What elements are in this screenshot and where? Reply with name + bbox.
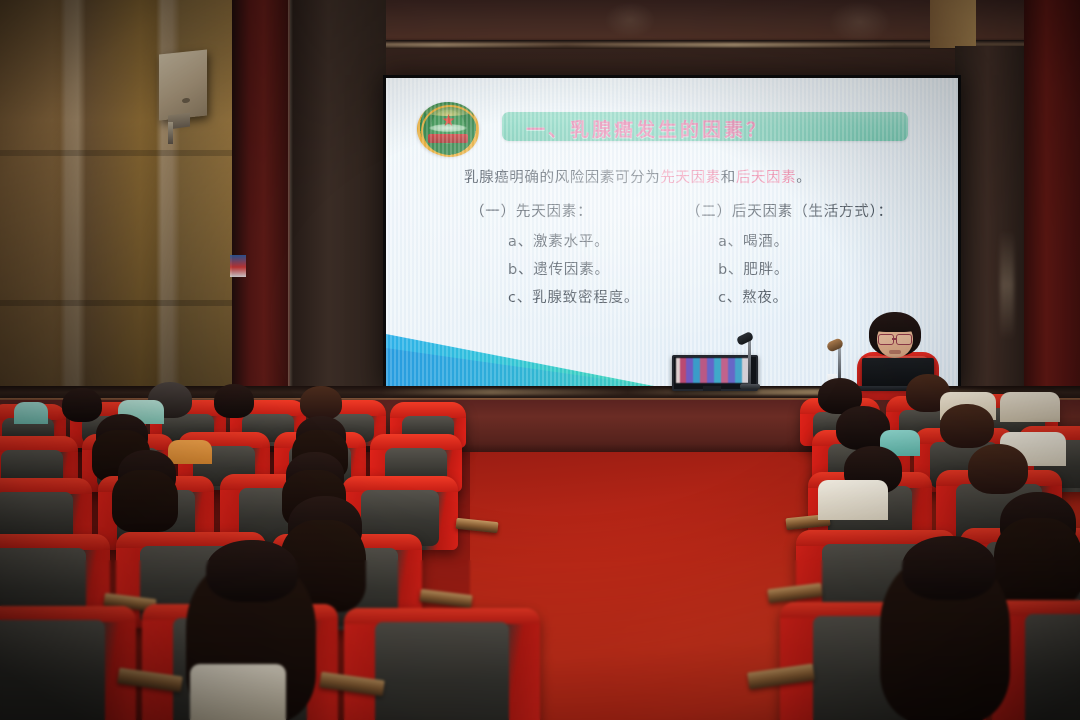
audience-hair: [994, 518, 1080, 608]
presenter-glasses-bridge: [892, 338, 896, 340]
desk-monitor-display: [676, 358, 750, 383]
lead-highlight-a: 先天因素: [660, 170, 720, 186]
dark-panel-right: [955, 46, 1027, 436]
list-item: [968, 444, 1028, 494]
column-2-item-c: c、熬夜。: [718, 286, 788, 307]
column-1-item-c: c、乳腺致密程度。: [508, 286, 639, 307]
slide-lead-line: 乳腺癌明确的风险因素可分为先天因素和后天因素。: [464, 166, 904, 187]
audience-clothing: [14, 402, 48, 424]
presenter-glasses-right-lens: [896, 334, 912, 345]
table-row: [0, 606, 136, 720]
lead-suffix: 。: [796, 170, 811, 186]
auditorium-photo: 一、乳腺癌发生的因素？ 乳腺癌明确的风险因素可分为先天因素和后天因素。 （一）先…: [0, 0, 1080, 720]
wall-speaker: [159, 49, 207, 120]
column-2-item-a: a、喝酒。: [718, 230, 789, 251]
audience-clothing: [1000, 392, 1060, 422]
slide-title: 一、乳腺癌发生的因素？: [526, 115, 906, 139]
tan-panel-right: [930, 0, 976, 48]
list-item: [300, 386, 342, 420]
microphone-left-stem: [748, 340, 751, 386]
moulding-highlight: [300, 43, 1000, 47]
desk-monitor-stand: [703, 386, 721, 391]
speaker-bracket: [168, 122, 173, 144]
emblem-wings-icon: [429, 124, 467, 132]
column-2-heading: （二）后天因素（生活方式）：: [686, 200, 893, 221]
room-background: 一、乳腺癌发生的因素？ 乳腺癌明确的风险因素可分为先天因素和后天因素。 （一）先…: [0, 0, 1080, 720]
column-1-item-b: b、遗传因素。: [508, 258, 610, 279]
maroon-column-left: [232, 0, 290, 420]
audience-clothing: [190, 664, 286, 720]
column-1-item-a: a、激素水平。: [508, 230, 610, 251]
wall-sign: [230, 255, 246, 277]
presenter-mouth: [889, 350, 901, 354]
lead-highlight-b: 后天因素: [736, 170, 796, 186]
column-2-item-b: b、肥胖。: [718, 258, 789, 279]
audience-hair: [112, 470, 178, 532]
microphone-left-base: [740, 384, 760, 389]
table-row: [344, 608, 540, 720]
lead-prefix: 乳腺癌明确的风险因素可分为: [464, 170, 660, 186]
column-1-heading: （一）先天因素：: [470, 200, 592, 221]
audience-clothing: [818, 480, 888, 520]
emblem-banner: [428, 134, 468, 143]
list-item: [940, 404, 994, 448]
presenter-fringe: [872, 316, 918, 332]
lead-conjunction: 和: [721, 170, 736, 186]
list-item: [206, 540, 298, 602]
dark-panel-left: [290, 0, 386, 430]
list-item: [214, 384, 254, 418]
panel-edge-highlight: [288, 0, 293, 430]
list-item: [902, 536, 996, 600]
panel-right-sheen: [1000, 230, 1014, 340]
